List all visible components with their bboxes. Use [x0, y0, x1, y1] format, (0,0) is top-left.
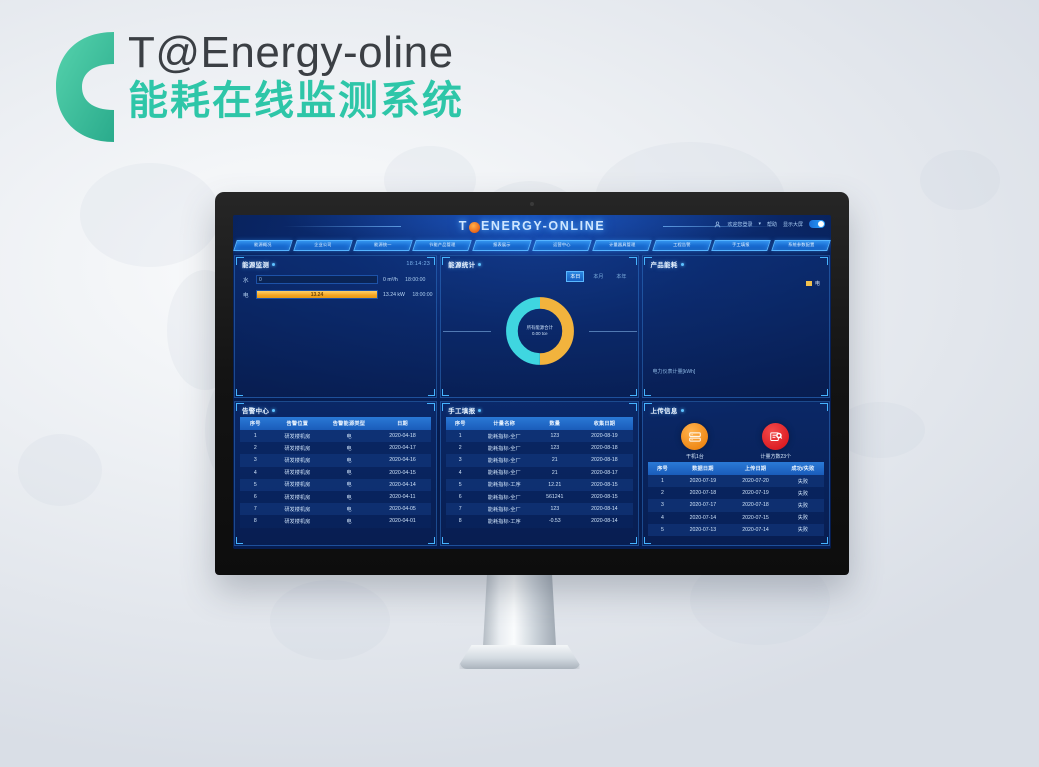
alarm-col-1: 告警位置: [271, 417, 325, 430]
brand-subtitle: 能耗在线监测系统: [128, 78, 464, 124]
cell: 2020-04-01: [374, 515, 431, 527]
cell: 4: [648, 512, 676, 524]
alarm-table-scroll[interactable]: 序号 告警位置 告警能源类型 日期 1研发楼机房电2020-04-18 2研发楼…: [235, 417, 436, 542]
bar-time-water: 18:00:00: [405, 277, 425, 283]
title-left-text: T: [459, 219, 468, 233]
user-name-label: 欢迎您登录: [727, 221, 752, 228]
table-row: 7能耗指标-全厂1232020-08-14: [446, 503, 633, 515]
panel-energy-stats-title: 能源统计: [448, 259, 475, 269]
status-badge: 失败: [782, 512, 824, 524]
panel-alarm-header: 告警中心: [235, 402, 436, 417]
cell: 2020-08-15: [575, 479, 633, 491]
cell: 研发楼机房: [271, 479, 325, 491]
bar-unit-water: 0 m³/h: [383, 277, 398, 283]
expand-dot-icon[interactable]: [478, 263, 481, 266]
main-nav: 能源概况 企业公司 能源统一 节能产品管理 报表展示 运营中心 计量器具管理 工…: [233, 240, 831, 251]
bar-meta-electric: 13.24 kW 18:00:00: [383, 292, 433, 298]
cell: 电: [324, 503, 374, 515]
cell: 2020-08-18: [575, 454, 633, 466]
alarm-col-2: 告警能源类型: [324, 417, 374, 430]
bigscreen-toggle[interactable]: [809, 220, 825, 228]
bar-label-electric: 电: [243, 291, 251, 299]
cell: 电: [324, 442, 374, 454]
bar-value-water: 0: [259, 277, 262, 283]
manual-col-0: 序号: [446, 417, 474, 430]
alarm-col-3: 日期: [374, 417, 431, 430]
cell: 2020-07-19: [677, 475, 730, 487]
table-row: 6研发楼机房电2020-04-11: [240, 491, 431, 503]
clock-label: 18:14:23: [406, 261, 430, 267]
donut-chart-area: 所有能源合计 0.00 tce 电 0.00 tce 水 0.00 tce: [441, 271, 638, 390]
expand-dot-icon[interactable]: [272, 409, 275, 412]
nav-label-5: 运营中心: [553, 243, 571, 247]
status-badge: 失败: [782, 487, 824, 499]
cell: 123: [534, 430, 575, 442]
cell: 能耗指标-全厂: [474, 454, 534, 466]
nav-label-1: 企业公司: [314, 243, 332, 247]
bar-time-electric: 18:00:00: [412, 292, 432, 298]
nav-label-4: 报表展示: [493, 243, 511, 247]
cell: 5: [648, 524, 676, 536]
upload-stat-server-label: 干机1台: [686, 453, 704, 460]
upload-header-row: 序号 数据日期 上传日期 成功/失败: [648, 462, 824, 475]
nav-label-6: 计量器具管理: [609, 243, 635, 247]
bar-track-electric: 13.24: [256, 290, 378, 299]
table-row: 6能耗指标-全厂5612412020-08-15: [446, 491, 633, 503]
cell: 12.21: [534, 479, 575, 491]
user-area[interactable]: 欢迎您登录 ▾ 帮助 显示大屏: [714, 220, 825, 228]
cell: 1: [648, 475, 676, 487]
bar-value-electric: 13.24: [311, 292, 324, 298]
cell: 能耗指标-工序: [474, 479, 534, 491]
legend-swatch-electric: [806, 281, 812, 286]
cell: 2020-07-14: [677, 512, 730, 524]
panel-upload-info: 上传信息 干机1台: [642, 401, 830, 546]
cell: 1: [446, 430, 474, 442]
cell: 123: [534, 442, 575, 454]
cell: 2020-08-14: [575, 503, 633, 515]
panel-energy-monitor-header: 能源监测 18:14:23: [235, 256, 436, 271]
help-label[interactable]: 帮助: [767, 221, 777, 228]
table-row: 1研发楼机房电2020-04-18: [240, 430, 431, 442]
upload-col-3: 成功/失败: [782, 462, 824, 475]
cell: 研发楼机房: [271, 491, 325, 503]
cell: 1: [240, 430, 271, 442]
panel-manual-entry: 手工填报 序号 计量名称 数量 收集日期 1能耗指标-全厂1232020-08-…: [440, 401, 639, 546]
nav-item-7[interactable]: 工程告警: [652, 240, 711, 251]
panel-product-energy-header: 产品能耗: [643, 256, 829, 271]
upload-col-0: 序号: [648, 462, 676, 475]
cell: 研发楼机房: [271, 467, 325, 479]
table-row: 7研发楼机房电2020-04-05: [240, 503, 431, 515]
alarm-table: 序号 告警位置 告警能源类型 日期 1研发楼机房电2020-04-18 2研发楼…: [240, 417, 431, 528]
cell: 3: [240, 454, 271, 466]
table-row: 8研发楼机房电2020-04-01: [240, 515, 431, 527]
cell: 2: [648, 487, 676, 499]
nav-item-5[interactable]: 运营中心: [532, 240, 591, 251]
monitor-stand-neck: [483, 575, 557, 655]
manual-col-3: 收集日期: [575, 417, 633, 430]
leader-line-left: [443, 331, 491, 332]
nav-item-1[interactable]: 企业公司: [293, 240, 352, 251]
cell: 2020-04-11: [374, 491, 431, 503]
nav-label-8: 手工填报: [733, 243, 751, 247]
cell: 2020-07-13: [677, 524, 730, 536]
webcam-icon: [530, 202, 534, 206]
table-row: 2研发楼机房电2020-04-17: [240, 442, 431, 454]
cell: 2020-04-15: [374, 467, 431, 479]
expand-dot-icon[interactable]: [681, 409, 684, 412]
cell: 3: [648, 499, 676, 511]
panel-upload-header: 上传信息: [643, 402, 829, 417]
panel-energy-stats: 能源统计 本日 本月 本年 所有能源合计: [440, 255, 639, 398]
alarm-table-header-row: 序号 告警位置 告警能源类型 日期: [240, 417, 431, 430]
table-row: 3研发楼机房电2020-04-16: [240, 454, 431, 466]
cell: 561241: [534, 491, 575, 503]
cell: 21: [534, 454, 575, 466]
cell: 2: [446, 442, 474, 454]
cell: 2020-08-18: [575, 442, 633, 454]
cell: 2020-08-17: [575, 467, 633, 479]
upload-stat-server[interactable]: 干机1台: [681, 423, 708, 460]
cell: 2: [240, 442, 271, 454]
cell: 2020-04-05: [374, 503, 431, 515]
cell: 能耗指标-工序: [474, 515, 534, 527]
cell: -0.53: [534, 515, 575, 527]
cell: 电: [324, 430, 374, 442]
panel-energy-monitor-title: 能源监测: [242, 259, 269, 269]
manual-col-1: 计量名称: [474, 417, 534, 430]
upload-col-1: 数据日期: [677, 462, 730, 475]
nav-item-0[interactable]: 能源概况: [233, 240, 292, 251]
c-ring-logo: [56, 28, 114, 146]
panel-alarm-title: 告警中心: [242, 405, 269, 415]
cell: 研发楼机房: [271, 442, 325, 454]
manual-entry-table-body: 1能耗指标-全厂1232020-08-19 2能耗指标-全厂1232020-08…: [446, 430, 633, 528]
cell: 研发楼机房: [271, 454, 325, 466]
dashboard-header: T ENERGY-ONLINE 欢迎您登录 ▾ 帮助 显示大屏: [233, 215, 831, 237]
cell: 研发楼机房: [271, 515, 325, 527]
legend-label-electric: 电: [815, 280, 820, 287]
cell: 能耗指标-全厂: [474, 430, 534, 442]
cell: 2020-04-17: [374, 442, 431, 454]
cell: 4: [240, 467, 271, 479]
panel-upload-title: 上传信息: [650, 405, 677, 415]
alarm-col-0: 序号: [240, 417, 271, 430]
nav-label-7: 工程告警: [673, 243, 691, 247]
cell: 2020-07-19: [729, 487, 782, 499]
monitor-stand-base: [460, 645, 580, 669]
upload-stats-row: 干机1台 计量方: [643, 417, 829, 462]
expand-dot-icon[interactable]: [478, 409, 481, 412]
status-badge: 失败: [782, 524, 824, 536]
chevron-down-icon[interactable]: ▾: [758, 221, 761, 227]
nav-label-0: 能源概况: [254, 243, 272, 247]
nav-label-2: 能源统一: [374, 243, 392, 247]
upload-col-2: 上传日期: [729, 462, 782, 475]
header-decor-line-left: [283, 226, 401, 227]
bar-track-water: 0: [256, 275, 378, 284]
cell: 2020-08-19: [575, 430, 633, 442]
cell: 2020-07-14: [729, 524, 782, 536]
nav-item-6[interactable]: 计量器具管理: [592, 240, 651, 251]
bar-meta-water: 0 m³/h 18:00:00: [383, 277, 425, 283]
cell: 能耗指标-全厂: [474, 442, 534, 454]
cell: 2020-07-17: [677, 499, 730, 511]
energy-bar-row-water: 水 0 0 m³/h 18:00:00: [243, 275, 428, 284]
cell: 5: [446, 479, 474, 491]
table-row: 1能耗指标-全厂1232020-08-19: [446, 430, 633, 442]
manual-entry-header-row: 序号 计量名称 数量 收集日期: [446, 417, 633, 430]
bar-unit-electric: 13.24 kW: [383, 292, 405, 298]
server-icon: [681, 423, 708, 450]
alarm-table-body: 1研发楼机房电2020-04-18 2研发楼机房电2020-04-17 3研发楼…: [240, 430, 431, 528]
cell: 7: [446, 503, 474, 515]
donut-center-label: 所有能源合计 0.00 tce: [501, 292, 579, 370]
cell: 6: [446, 491, 474, 503]
expand-dot-icon[interactable]: [272, 263, 275, 266]
nav-item-4[interactable]: 报表展示: [472, 240, 531, 251]
at-symbol-icon: [469, 222, 480, 233]
manual-entry-table: 序号 计量名称 数量 收集日期 1能耗指标-全厂1232020-08-19 2能…: [446, 417, 633, 528]
cell: 123: [534, 503, 575, 515]
cell: 2020-08-14: [575, 515, 633, 527]
upload-table: 序号 数据日期 上传日期 成功/失败 12020-07-192020-07-20…: [648, 462, 824, 536]
table-row: 5能耗指标-工序12.212020-08-15: [446, 479, 633, 491]
nav-label-3: 节能产品管理: [429, 243, 455, 247]
panel-product-energy: 产品能耗 电 电力仪表计量[kWh]: [642, 255, 830, 398]
panel-product-energy-title: 产品能耗: [650, 259, 677, 269]
nav-item-9[interactable]: 系统参数配置: [771, 240, 830, 251]
cell: 4: [446, 467, 474, 479]
cell: 2020-07-18: [729, 499, 782, 511]
table-row: 3能耗指标-全厂212020-08-18: [446, 454, 633, 466]
cell: 6: [240, 491, 271, 503]
nav-label-9: 系统参数配置: [788, 243, 814, 247]
cell: 8: [446, 515, 474, 527]
brand-title: T@Energy-oline: [128, 30, 464, 76]
table-row: 8能耗指标-工序-0.532020-08-14: [446, 515, 633, 527]
manual-col-2: 数量: [534, 417, 575, 430]
table-row: 42020-07-142020-07-15失败: [648, 512, 824, 524]
cell: 电: [324, 454, 374, 466]
panel-energy-stats-header: 能源统计: [441, 256, 638, 271]
table-row: 32020-07-172020-07-18失败: [648, 499, 824, 511]
table-row: 22020-07-182020-07-19失败: [648, 487, 824, 499]
table-row: 52020-07-132020-07-14失败: [648, 524, 824, 536]
person-icon: [714, 221, 721, 228]
cell: 5: [240, 479, 271, 491]
cell: 2020-07-18: [677, 487, 730, 499]
cell: 能耗指标-全厂: [474, 467, 534, 479]
dashboard-title: T ENERGY-ONLINE: [459, 219, 606, 233]
cell: 2020-04-18: [374, 430, 431, 442]
energy-bar-list: 水 0 0 m³/h 18:00:00 电 13.24: [235, 271, 436, 299]
product-energy-axis-note: 电力仪表计量[kWh]: [652, 368, 695, 375]
leader-line-right: [589, 331, 637, 332]
cell: 电: [324, 479, 374, 491]
cell: 研发楼机房: [271, 430, 325, 442]
nav-item-8[interactable]: 手工填报: [712, 240, 771, 251]
status-badge: 失败: [782, 475, 824, 487]
brand-header: T@Energy-oline 能耗在线监测系统: [56, 28, 464, 146]
upload-table-body: 12020-07-192020-07-20失败 22020-07-182020-…: [648, 475, 824, 536]
cell: 7: [240, 503, 271, 515]
manual-entry-table-scroll[interactable]: 序号 计量名称 数量 收集日期 1能耗指标-全厂1232020-08-19 2能…: [441, 417, 638, 542]
table-row: 5研发楼机房电2020-04-14: [240, 479, 431, 491]
panel-manual-entry-header: 手工填报: [441, 402, 638, 417]
table-row: 12020-07-192020-07-20失败: [648, 475, 824, 487]
cell: 2020-07-15: [729, 512, 782, 524]
cell: 2020-07-20: [729, 475, 782, 487]
upload-stat-meters[interactable]: 计量方数23个: [760, 423, 791, 460]
nav-item-3[interactable]: 节能产品管理: [413, 240, 472, 251]
nav-item-2[interactable]: 能源统一: [353, 240, 412, 251]
monitor-bezel: T ENERGY-ONLINE 欢迎您登录 ▾ 帮助 显示大屏 能源概况 企业公…: [215, 192, 849, 575]
cell: 研发楼机房: [271, 503, 325, 515]
cell: 8: [240, 515, 271, 527]
panel-manual-entry-title: 手工填报: [448, 405, 475, 415]
cell: 电: [324, 467, 374, 479]
cell: 2020-04-14: [374, 479, 431, 491]
bigscreen-toggle-label: 显示大屏: [783, 221, 803, 228]
cell: 能耗指标-全厂: [474, 491, 534, 503]
cell: 电: [324, 515, 374, 527]
product-energy-legend: 电: [806, 280, 820, 287]
expand-dot-icon[interactable]: [681, 263, 684, 266]
status-badge: 失败: [782, 499, 824, 511]
table-row: 4研发楼机房电2020-04-15: [240, 467, 431, 479]
dashboard-screen: T ENERGY-ONLINE 欢迎您登录 ▾ 帮助 显示大屏 能源概况 企业公…: [233, 215, 831, 549]
dashboard-grid: 能源监测 18:14:23 水 0 0 m³/h 18:00:00: [233, 255, 831, 547]
bar-label-water: 水: [243, 276, 251, 284]
cell: 21: [534, 467, 575, 479]
cell: 电: [324, 491, 374, 503]
cell: 2020-04-16: [374, 454, 431, 466]
panel-energy-monitor: 能源监测 18:14:23 水 0 0 m³/h 18:00:00: [234, 255, 437, 398]
cell: 2020-08-15: [575, 491, 633, 503]
table-row: 2能耗指标-全厂1232020-08-18: [446, 442, 633, 454]
upload-table-scroll[interactable]: 序号 数据日期 上传日期 成功/失败 12020-07-192020-07-20…: [643, 462, 829, 536]
donut-center-line2: 0.00 tce: [532, 331, 548, 337]
table-row: 4能耗指标-全厂212020-08-17: [446, 467, 633, 479]
panel-alarm-center: 告警中心 序号 告警位置 告警能源类型 日期 1研发楼机房电2020-04-18: [234, 401, 437, 546]
title-right-text: ENERGY-ONLINE: [481, 219, 605, 233]
cell: 能耗指标-全厂: [474, 503, 534, 515]
energy-bar-row-electric: 电 13.24 13.24 kW 18:00:00: [243, 290, 428, 299]
cell: 3: [446, 454, 474, 466]
donut-chart: 所有能源合计 0.00 tce 电 0.00 tce 水 0.00 tce: [501, 292, 579, 370]
document-search-icon: [762, 423, 789, 450]
upload-stat-meters-label: 计量方数23个: [760, 453, 791, 460]
